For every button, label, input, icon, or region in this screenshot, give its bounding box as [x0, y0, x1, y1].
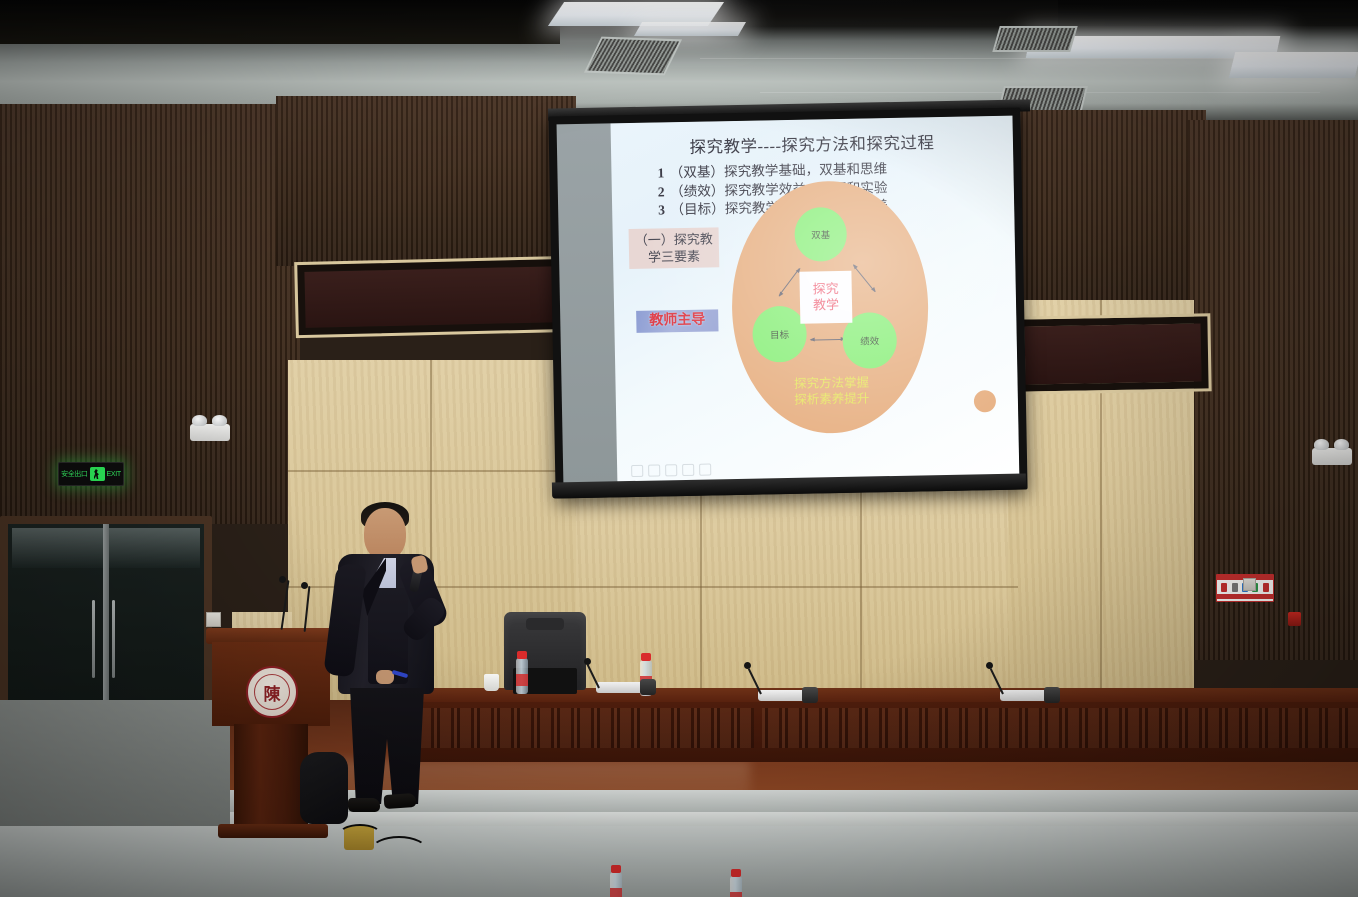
running-person-icon: [90, 467, 105, 481]
bottle-label: [610, 888, 622, 897]
diagram-accent-dot: [974, 390, 996, 412]
ceiling-light-fixture: [634, 22, 746, 36]
presentation-slide: 探究教学----探究方法和探究过程 1 （双基）探究教学基础，双基和思维 2 （…: [611, 116, 1020, 484]
hvac-vent: [584, 37, 682, 76]
bullet-number: 2: [658, 184, 665, 199]
bullet-text: （双基）探究教学基础，双基和思维: [670, 161, 888, 180]
alarm-icon: [1263, 583, 1269, 592]
screen-surface: 探究教学----探究方法和探究过程 1 （双基）探究教学基础，双基和思维 2 （…: [557, 116, 1020, 487]
podium-microphone-head: [279, 576, 286, 583]
paper-cup: [484, 674, 499, 691]
wall-panel-dark-left: [0, 104, 300, 524]
emergency-lamp-icon: [192, 415, 207, 426]
acoustic-panel-right: [1017, 316, 1208, 391]
water-bottle: [516, 658, 528, 694]
emergency-light-right: [1312, 448, 1352, 465]
presentation-toolbar[interactable]: [631, 464, 711, 478]
podium-stem: [234, 724, 308, 828]
stage-front-wall: [0, 826, 1358, 897]
bullet-number: 3: [658, 203, 665, 218]
bullet-number: 1: [657, 165, 664, 180]
table-microphone-base: [596, 682, 644, 693]
lecture-hall-photo: 探究教学----探究方法和探究过程 1 （双基）探究教学基础，双基和思维 2 （…: [0, 0, 1358, 897]
bottle-cap: [731, 869, 741, 877]
wall-seam: [700, 470, 702, 700]
bottle-label: [730, 892, 742, 897]
center-label-line2: 教学: [813, 297, 839, 313]
node-label: 目标: [770, 327, 789, 341]
wall-socket-left[interactable]: [206, 612, 221, 627]
podium-microphone-head: [301, 582, 308, 589]
next-slide-icon[interactable]: [699, 464, 711, 476]
ceiling-dark-band-left: [0, 0, 560, 44]
water-bottle: [730, 876, 742, 897]
sign-footer-bar: [1217, 594, 1273, 599]
microphone-body: [640, 679, 656, 695]
diagram-caption: 探究方法掌握 探析素养提升: [733, 373, 930, 409]
center-label-line1: 探究: [813, 281, 839, 297]
water-bottle: [610, 872, 622, 897]
presenter-shoe: [348, 798, 380, 812]
table-microphone-base: [1000, 690, 1048, 701]
diagram-center-label: 探究 教学: [799, 271, 852, 324]
projection-screen: 探究教学----探究方法和探究过程 1 （双基）探究教学基础，双基和思维 2 （…: [548, 108, 1027, 499]
hose-icon: [1232, 583, 1238, 592]
microphone-head: [744, 662, 751, 669]
pen-icon[interactable]: [648, 464, 660, 476]
caption-line2: 探析素养提升: [734, 389, 930, 409]
emergency-lamp-icon: [1334, 439, 1349, 450]
emergency-lamp-icon: [212, 415, 227, 426]
zoom-icon[interactable]: [665, 464, 677, 476]
table-fret-pattern: [414, 708, 754, 748]
bottle-cap: [641, 653, 651, 661]
university-emblem: 陳: [246, 666, 298, 718]
extinguisher-icon: [1221, 583, 1227, 592]
menu-icon[interactable]: [682, 464, 694, 476]
emblem-character: 陳: [254, 674, 290, 710]
slide-section-tag: （一）探究教学三要素: [629, 227, 720, 269]
ceiling-light-fixture: [1229, 52, 1358, 78]
backpack: [300, 752, 348, 824]
hvac-vent: [992, 26, 1077, 52]
microphone-body: [802, 687, 818, 703]
podium-base: [218, 824, 328, 838]
bottle-cap: [517, 651, 527, 659]
microphone-head: [584, 658, 591, 665]
exit-sign: 安全出口 EXIT: [58, 462, 124, 486]
fire-alarm-button[interactable]: [1288, 612, 1301, 626]
ceiling-dark-band-right: [1058, 0, 1358, 26]
presenter-trousers: [350, 688, 424, 804]
monitor-notch: [526, 618, 564, 630]
presenter-shoe: [384, 793, 417, 809]
node-label: 绩效: [860, 333, 879, 347]
slide-role-tag: 教师主导: [636, 309, 718, 333]
microphone-body: [1044, 687, 1060, 703]
emergency-lamp-icon: [1314, 439, 1329, 450]
emergency-light-left: [190, 424, 230, 441]
prev-slide-icon[interactable]: [631, 465, 643, 477]
wall-panel-dark-upper-right: [1006, 110, 1206, 310]
bottle-cap: [611, 865, 621, 873]
table-fret-pattern: [762, 708, 1358, 748]
podium-front-panel: 陳: [212, 642, 330, 726]
exit-sign-chinese-label: 安全出口: [61, 469, 87, 479]
door-handle[interactable]: [92, 600, 95, 678]
microphone-head: [986, 662, 993, 669]
table-microphone-base: [758, 690, 806, 701]
wall-socket-right[interactable]: [1243, 578, 1256, 591]
door-handle[interactable]: [112, 600, 115, 678]
floor-cable: [338, 824, 382, 846]
node-label: 双基: [811, 227, 830, 241]
wall-panel-dark-upper-center: [276, 96, 576, 266]
exit-sign-english-label: EXIT: [107, 471, 121, 478]
presenter-head: [364, 508, 406, 560]
slide-title: 探究教学----探究方法和探究过程: [611, 128, 1013, 160]
wall-seam: [860, 470, 862, 700]
acoustic-panel-left: [297, 259, 571, 335]
bottle-label: [516, 674, 528, 686]
